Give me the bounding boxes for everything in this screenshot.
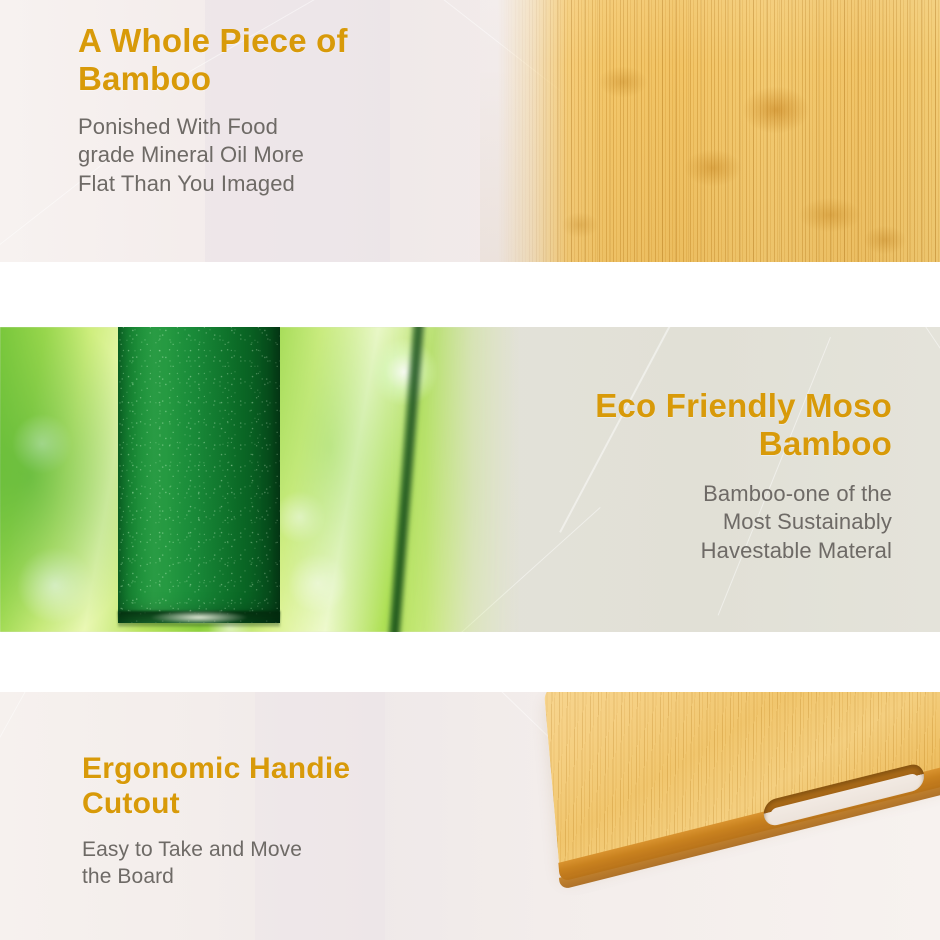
panel-1-description: Ponished With Food grade Mineral Oil Mor… (78, 113, 408, 199)
feature-panel-whole-piece-bamboo: A Whole Piece of Bamboo Ponished With Fo… (0, 0, 940, 262)
panel-3-description: Easy to Take and Move the Board (82, 836, 452, 891)
bamboo-plank-shading (480, 0, 940, 262)
feature-panel-ergonomic-handle-cutout: Ergonomic Handie Cutout Easy to Take and… (0, 692, 940, 940)
bamboo-cutting-board-image (520, 692, 940, 940)
infographic-page: A Whole Piece of Bamboo Ponished With Fo… (0, 0, 940, 940)
feature-panel-eco-friendly-moso-bamboo: Eco Friendly Moso Bamboo Bamboo-one of t… (0, 327, 940, 632)
panel-2-description: Bamboo-one of the Most Sustainably Haves… (492, 480, 892, 566)
panel-3-text-block: Ergonomic Handie Cutout Easy to Take and… (82, 752, 452, 890)
culm-node-base (118, 611, 280, 627)
culm-gloss-shading (118, 327, 280, 623)
panel-3-title: Ergonomic Handie Cutout (82, 752, 452, 822)
panel-1-title: A Whole Piece of Bamboo (78, 22, 408, 99)
panel-1-text-block: A Whole Piece of Bamboo Ponished With Fo… (78, 22, 408, 198)
green-bamboo-photo (0, 327, 520, 632)
panel-2-title: Eco Friendly Moso Bamboo (492, 387, 892, 464)
panel-2-text-block: Eco Friendly Moso Bamboo Bamboo-one of t… (492, 387, 892, 565)
dewy-bamboo-culm (118, 327, 280, 623)
